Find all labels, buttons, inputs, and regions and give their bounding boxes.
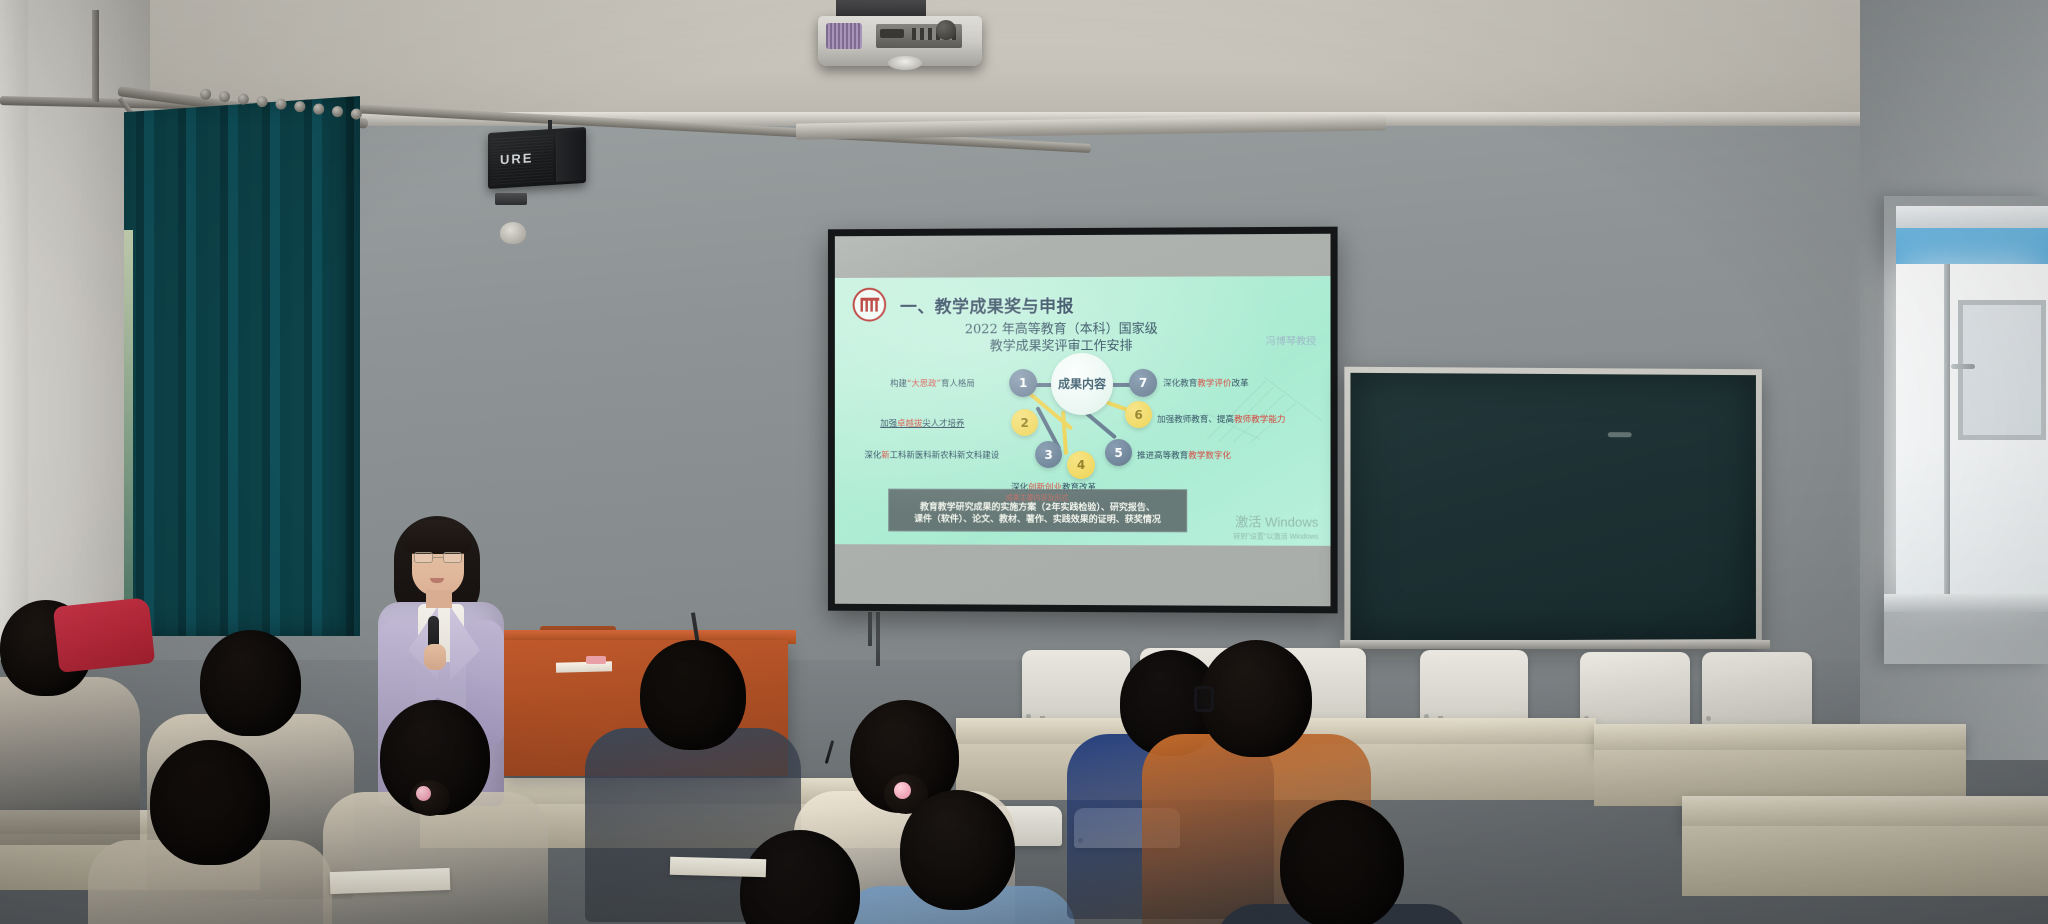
desk [1682,796,2048,830]
curtain-grommet [218,91,230,103]
watermark-line1: 激活 Windows [1233,511,1318,530]
diagram-node-6: 6 [1125,401,1152,428]
projector-lens [888,56,922,70]
windows-activation-watermark: 激活 Windows 转到"设置"以激活 Windows [1233,511,1318,541]
glasses-icon [414,552,462,563]
red-bag [53,597,155,673]
presenter-hair-front [404,520,472,554]
rail-drop-bracket [92,10,99,102]
node-2-number: 2 [1020,416,1028,430]
slide-author: 冯博琴教授 [1266,332,1317,347]
blackboard-surface [1350,373,1755,641]
slide-title: 一、教学成果奖与申报 [900,292,1074,317]
node-6-number: 6 [1134,407,1142,421]
lectern-small-item [586,656,606,664]
diagram-label-6: 加强教师教育、提高教师教学能力 [1157,413,1285,425]
glasses-icon [1194,686,1214,712]
callout-line2: 课件（软件）、论文、教材、著作、实践效果的证明、获奖情况 [895,514,1180,527]
notebook [330,868,451,894]
curtain-grommet [256,95,268,107]
attendee-head [150,740,270,865]
slide-subtitle-line2: 教学成果奖评审工作安排 [961,338,1161,355]
curtain-grommet [331,105,343,117]
node-1-number: 1 [1019,376,1027,390]
slide-subtitle-line1: 2022 年高等教育（本科）国家级 [961,321,1161,338]
speaker-brand-label: URE [500,150,533,167]
university-emblem-icon [853,288,887,322]
attendee-head [1280,800,1404,924]
diagram-node-5: 5 [1105,439,1132,466]
node-4-number: 4 [1077,458,1085,472]
window-valance-top [1896,206,2048,230]
diagram-label-1: 构建“大思政”育人格局 [890,377,975,389]
edge-center-4 [1061,411,1068,455]
diagram-center-node: 成果 内容 [1051,353,1113,415]
diagram-node-4: 4 [1067,451,1095,479]
presentation-slide: 一、教学成果奖与申报 2022 年高等教育（本科）国家级 教学成果奖评审工作安排… [835,276,1331,546]
blackboard [1344,367,1761,648]
diagram-node-1: 1 [1009,369,1037,397]
window-valance [1896,228,2048,264]
node-3-number: 3 [1044,447,1052,461]
presenter-neck [426,590,452,608]
node-5-number: 5 [1114,446,1122,460]
callout-line1: 教育教学研究成果的实施方案（2年实践检验）、研究报告、 [895,502,1180,515]
results-content-diagram: 成果 内容 1 2 3 4 5 6 7 构建“大思政”育人格局 [835,361,1331,480]
attendee-front-right [740,830,1015,924]
attendee-head [200,630,301,736]
speaker-side-panel [556,130,586,182]
node-7-number: 7 [1139,376,1147,390]
desk-front-panel [1682,826,2048,896]
ceiling-projector [818,16,982,66]
window-inner-pane [1958,300,2046,440]
callout-heading: 成果主要内容及形式 [895,494,1180,503]
wall-sensor-icon [500,222,526,244]
chair [1702,652,1812,726]
attendee-head [640,640,746,750]
diagram-node-2: 2 [1011,409,1038,436]
curtain-grommet [294,100,306,112]
projection-screen-surface: 一、教学成果奖与申报 2022 年高等教育（本科）国家级 教学成果奖评审工作安排… [835,234,1331,607]
attendee-torso [0,677,140,845]
diagram-node-7: 7 [1129,369,1157,397]
hair-clip-icon [416,786,431,801]
emblem-glyph [860,298,879,312]
attendee-front-center [1280,800,1566,924]
window-mullion [1944,264,1950,594]
projection-screen: 一、教学成果奖与申报 2022 年高等教育（本科）国家级 教学成果奖评审工作安排… [828,227,1338,614]
window-handle[interactable] [1951,364,1975,369]
attendee-head [1200,640,1312,757]
diagram-node-3: 3 [1035,441,1062,468]
center-node-line2: 内容 [1082,377,1106,391]
hair-bun [410,780,450,816]
notebook [670,857,766,878]
diagram-label-5: 推进高等教育教学数字化 [1137,449,1231,461]
chair [1580,652,1690,726]
projector-vent-icon [826,23,862,49]
diagram-label-7: 深化教育教学评价改革 [1163,377,1249,389]
curtain [124,96,360,636]
projector-focus-knob [936,20,956,40]
diagram-label-3: 深化新工科新医科新农科新文科建设 [864,449,999,461]
diagram-label-2: 加强卓越拔尖人才培养 [880,417,964,429]
curtain-grommet [199,88,211,100]
classroom-lecture-photo: URE 一、教学成果奖与申报 2022 年高等教育（本科）国家级 教学成果奖评审… [0,0,2048,924]
curtain-grommet [275,98,287,110]
wall-mount-plate [495,193,527,205]
curtain-grommet [313,103,325,115]
watermark-line2: 转到"设置"以激活 Windows [1233,531,1318,541]
chalk-smudge [1608,432,1632,437]
curtain-grommet [237,93,249,105]
window-sill [1884,594,2048,612]
slide-bottom-callout: 成果主要内容及形式 教育教学研究成果的实施方案（2年实践检验）、研究报告、 课件… [888,489,1187,533]
curtain-grommet [350,108,362,120]
slide-subtitle: 2022 年高等教育（本科）国家级 教学成果奖评审工作安排 [961,321,1161,355]
wall-speaker: URE [488,127,586,189]
curtain-light-gap [124,230,133,630]
center-node-line1: 成果 [1058,377,1082,391]
